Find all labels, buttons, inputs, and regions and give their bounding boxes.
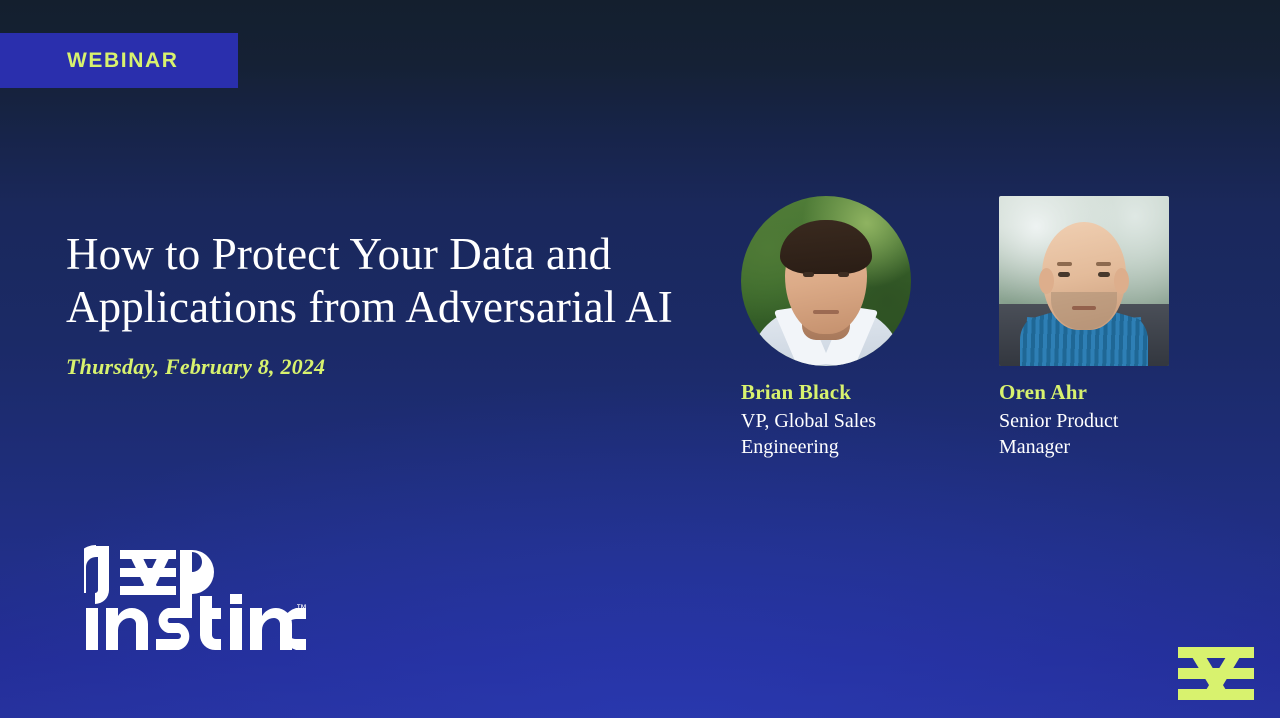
brow-right-shape: [1096, 262, 1111, 266]
eye-left-shape: [1058, 272, 1070, 277]
title-line-1: How to Protect Your Data and: [66, 229, 611, 279]
speaker-role-line-2: Manager: [999, 436, 1070, 458]
event-date: Thursday, February 8, 2024: [66, 354, 686, 380]
speaker-card: Oren Ahr Senior Product Manager: [999, 196, 1171, 461]
brow-left-shape: [1057, 262, 1072, 266]
speakers-list: Brian Black VP, Global Sales Engineering: [741, 196, 1171, 461]
speaker-role: VP, Global Sales Engineering: [741, 408, 913, 461]
webinar-badge-label: WEBINAR: [67, 49, 179, 73]
deep-instinct-logo: ™: [84, 536, 314, 654]
eye-right-shape: [1098, 272, 1110, 277]
speaker-name: Oren Ahr: [999, 380, 1171, 405]
title-line-2: Applications from Adversarial AI: [66, 282, 673, 332]
mouth-shape: [1072, 306, 1096, 310]
speaker-photo-brian-black: [741, 196, 911, 366]
speaker-photo-oren-ahr: [999, 196, 1169, 366]
speaker-role-line-2: Engineering: [741, 436, 839, 458]
speaker-role-line-1: Senior Product: [999, 410, 1118, 432]
speaker-role: Senior Product Manager: [999, 408, 1171, 461]
speaker-name: Brian Black: [741, 380, 913, 405]
speaker-role-line-1: VP, Global Sales: [741, 410, 876, 432]
hair-shape: [780, 220, 872, 274]
ear-right-shape: [1114, 268, 1129, 294]
mouth-shape: [813, 310, 839, 314]
speaker-card: Brian Black VP, Global Sales Engineering: [741, 196, 913, 461]
webinar-badge: WEBINAR: [0, 33, 238, 88]
trademark-symbol: ™: [296, 603, 307, 615]
eye-left-shape: [803, 272, 814, 277]
deep-instinct-logomark: [1176, 643, 1256, 705]
webinar-promo-slide: WEBINAR How to Protect Your Data and App…: [0, 0, 1280, 718]
eye-right-shape: [838, 272, 849, 277]
title-block: How to Protect Your Data and Application…: [66, 228, 686, 380]
page-title: How to Protect Your Data and Application…: [66, 228, 686, 334]
ear-left-shape: [1039, 268, 1054, 294]
